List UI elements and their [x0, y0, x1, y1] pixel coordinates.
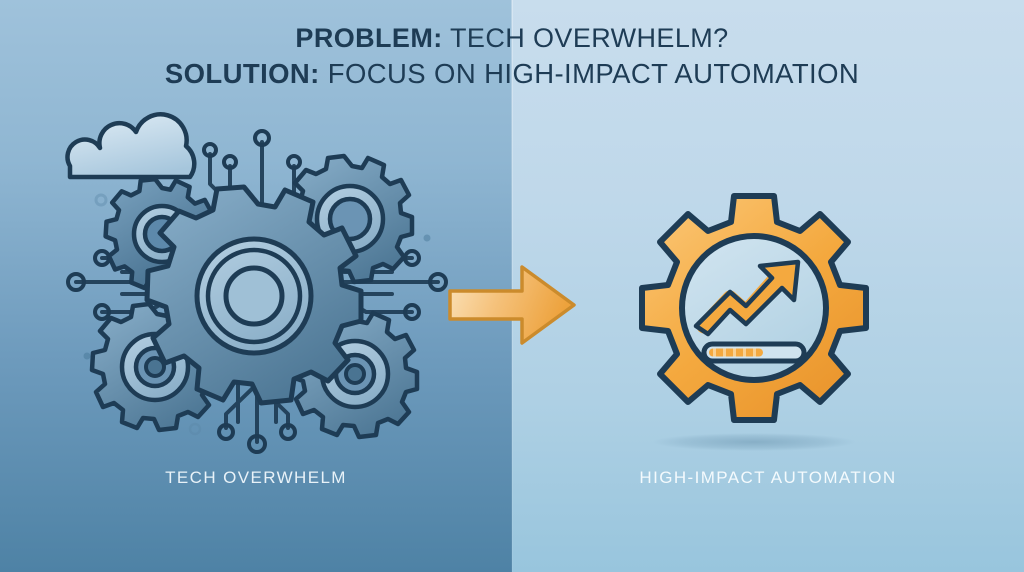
drop-shadow-ellipse — [652, 433, 856, 451]
heading-solution-label: SOLUTION: — [165, 58, 320, 89]
left-panel-caption: TECH OVERWHELM — [0, 468, 512, 488]
heading-block: PROBLEM: TECH OVERWHELM? SOLUTION: FOCUS… — [0, 20, 1024, 92]
transition-arrow — [446, 255, 578, 355]
right-panel-caption: HIGH-IMPACT AUTOMATION — [512, 468, 1024, 488]
heading-line-problem: PROBLEM: TECH OVERWHELM? — [0, 20, 1024, 56]
arrow-right-icon — [450, 267, 574, 343]
heading-problem-label: PROBLEM: — [295, 23, 442, 53]
heading-problem-text: TECH OVERWHELM? — [443, 23, 729, 53]
heading-solution-text: FOCUS ON HIGH-IMPACT AUTOMATION — [320, 58, 859, 89]
orange-gear-icon — [642, 196, 866, 420]
cloud-icon — [68, 114, 195, 177]
heading-line-solution: SOLUTION: FOCUS ON HIGH-IMPACT AUTOMATIO… — [0, 56, 1024, 92]
high-impact-automation-illustration — [636, 192, 876, 452]
infographic-canvas: PROBLEM: TECH OVERWHELM? SOLUTION: FOCUS… — [0, 0, 1024, 572]
tech-overwhelm-illustration — [62, 122, 452, 452]
progress-bar — [704, 344, 804, 361]
